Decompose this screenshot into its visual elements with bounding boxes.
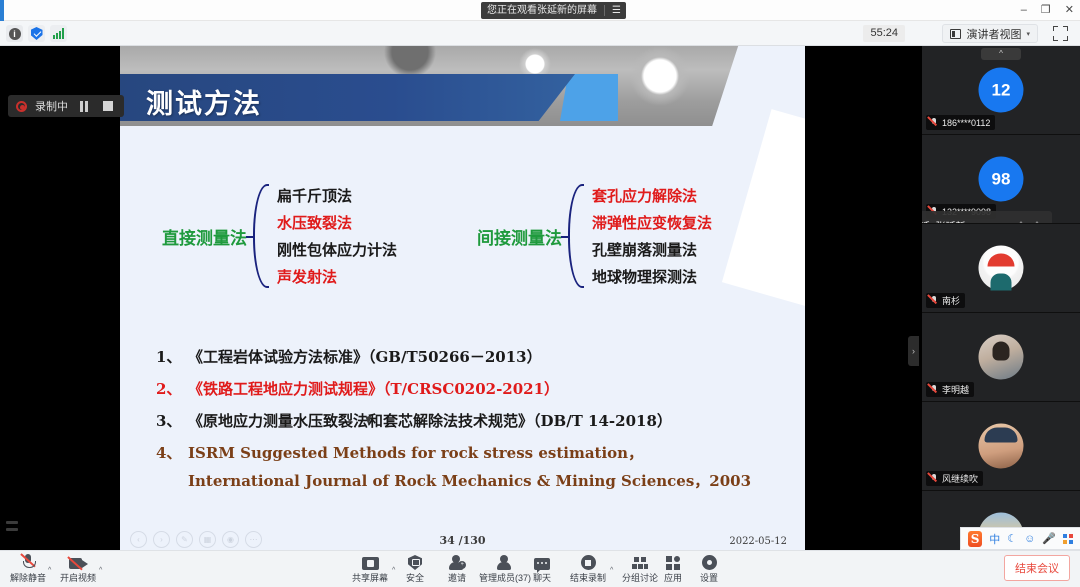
reference-text: 《工程岩体试验方法标准》（GB/T50266－2013） [188,346,542,367]
slide-date: 2022-05-12 [729,536,787,547]
recording-label: 录制中 [35,98,68,114]
participant-tile[interactable]: 南杉 [922,224,1080,313]
slide-footer: ‹ › ✎ ▦ ◉ ⋯ 34 /130 2022-05-12 [120,524,805,550]
participant-name: 南杉 [942,294,960,307]
invite-label: 邀请 [448,571,466,584]
avatar: 98 [979,157,1024,202]
avatar: 12 [979,68,1024,113]
emoji-icon[interactable]: ☺ [1024,533,1035,545]
microphone-muted-icon [929,117,938,128]
security-button[interactable]: 安全 [406,554,424,584]
branch-label: 直接测量法 [162,224,247,249]
reference-number: 1、 [156,346,180,367]
zoom-icon[interactable]: ◉ [222,531,239,548]
unmute-label: 解除静音 [10,571,46,584]
meeting-status-icons: i [6,25,67,42]
reference-number: 4、 [156,442,180,463]
slide-corner-shape [722,109,805,307]
share-options-caret[interactable]: ^ [392,567,395,574]
share-screen-button[interactable]: 共享屏幕 [352,554,388,584]
pause-recording-button[interactable] [76,98,92,114]
slide-page-number: 34 /130 [439,534,485,547]
chevron-up-icon[interactable]: ^ [981,48,1021,60]
participant-tile[interactable]: 正在讲话: 张延新; 98 132****9098 [922,135,1080,224]
branch-item-list: 套孔应力解除法 滞弹性应变恢复法 孔壁崩落测量法 地球物理探测法 [592,185,712,287]
microphone-muted-icon [929,384,938,395]
more-options-icon[interactable]: ⋯ [245,531,262,548]
avatar [979,246,1024,291]
chat-label: 聊天 [533,571,551,584]
person-icon [497,554,513,570]
ime-toolbar: S 中 ☾ ☺ 🎤 [960,527,1080,550]
share-screen-icon [362,554,379,570]
share-screen-label: 共享屏幕 [352,571,388,584]
start-video-button[interactable]: 开启视频 [60,554,96,584]
participant-name-tag: 186****0112 [926,115,995,130]
invite-button[interactable]: + 邀请 [448,554,466,584]
manage-participants-button[interactable]: 管理成员(37) [479,554,531,584]
window-controls: – ❐ ✕ [1021,0,1074,21]
screen-share-notice-label: 您正在观看张延新的屏幕 [487,2,597,19]
branch-item: 套孔应力解除法 [592,185,712,206]
branch-item: 地球物理探测法 [592,266,712,287]
fullscreen-icon[interactable] [1053,26,1068,41]
branch-item: 刚性包体应力计法 [277,239,397,260]
apps-grid-icon [666,554,681,570]
microphone-muted-icon [929,473,938,484]
apps-label: 应用 [664,571,682,584]
collapse-panel-button[interactable]: › [908,336,919,366]
window-accent-edge [0,0,4,21]
branch-item-list: 扁千斤顶法 水压致裂法 刚性包体应力计法 声发射法 [277,185,397,287]
participants-panel: ^ 12 186****0112 正在讲话: 张延新; 98 132****90… [922,46,1080,550]
info-icon[interactable]: i [6,25,23,42]
branch-label: 间接测量法 [477,224,562,249]
moon-icon[interactable]: ☾ [1007,532,1017,545]
reference-item-continuation: International Journal of Rock Mechanics … [188,470,796,491]
grid-view-icon[interactable]: ▦ [199,531,216,548]
sogou-ime-logo-icon[interactable]: S [968,531,982,547]
reference-text: ISRM Suggested Methods for rock stress e… [188,442,643,463]
breakout-rooms-label: 分组讨论 [622,571,658,584]
branch-item: 滞弹性应变恢复法 [592,212,712,233]
record-dot-icon [16,101,27,112]
breakout-rooms-icon [632,554,648,570]
speaking-indicator-toast: 正在讲话: 张延新; [922,211,1052,224]
meeting-window: 您正在观看张延新的屏幕 ☰ – ❐ ✕ i 55:24 演讲者视图 ▾ [0,0,1080,587]
settings-label: 设置 [700,571,718,584]
microphone-muted-icon [929,295,938,306]
annotation-handle[interactable] [6,521,18,549]
pen-icon[interactable]: ✎ [176,531,193,548]
audio-options-caret[interactable]: ^ [48,567,51,574]
chevron-down-icon[interactable]: ▾ [1026,30,1030,38]
gear-icon [702,554,717,570]
participant-name-tag: 风继续吹 [926,471,983,486]
next-slide-icon[interactable]: › [153,531,170,548]
avatar [979,424,1024,469]
maximize-button[interactable]: ❐ [1041,0,1051,21]
stop-recording-button[interactable]: 结束录制 [570,554,606,584]
close-button[interactable]: ✕ [1065,0,1074,21]
end-meeting-button[interactable]: 结束会议 [1004,555,1070,581]
minimize-button[interactable]: – [1021,0,1027,21]
branch-direct-measurement: 直接测量法 扁千斤顶法 水压致裂法 刚性包体应力计法 声发射法 [162,184,397,288]
settings-button[interactable]: 设置 [700,554,718,584]
participant-name-tag: 南杉 [926,293,965,308]
reference-number: 2、 [156,378,180,399]
start-video-label: 开启视频 [60,571,96,584]
recording-control-bar: 录制中 [8,95,124,117]
window-title-bar: 您正在观看张延新的屏幕 ☰ – ❐ ✕ [0,0,1080,21]
presentation-slide: 测试方法 直接测量法 扁千斤顶法 水压致裂法 刚性包体应力计法 声发射法 [120,46,805,550]
reference-list: 1、 《工程岩体试验方法标准》（GB/T50266－2013） 2、 《铁路工程… [156,346,796,491]
stop-recording-button[interactable] [100,98,116,114]
branch-item: 扁千斤顶法 [277,185,397,206]
avatar [979,335,1024,380]
view-mode-label: 演讲者视图 [966,26,1021,42]
manage-participants-label: 管理成员(37) [479,571,531,584]
signal-bars-icon[interactable] [50,25,67,42]
stop-recording-label: 结束录制 [570,571,606,584]
pause-icon [80,101,88,112]
reference-item: 3、 《原地应力测量水压致裂法和套芯解除法技术规范》（DB/T 14-2018） [156,410,796,431]
branch-item: 孔壁崩落测量法 [592,239,712,260]
stop-recording-icon [581,554,596,570]
prev-slide-icon[interactable]: ‹ [130,531,147,548]
chat-icon [534,554,550,570]
brace-icon [253,184,269,288]
microphone-icon[interactable]: 🎤 [1042,532,1056,545]
speaker-view-icon [950,29,961,39]
meeting-timer: 55:24 [863,25,905,42]
participant-name-tag: 李明越 [926,382,974,397]
reference-item: 4、 ISRM Suggested Methods for rock stres… [156,442,796,463]
meeting-toolbar: 解除静音 ^ 开启视频 ^ 共享屏幕 ^ 安全 + 邀请 管理成员(37) [0,550,1080,587]
reference-text: 《原地应力测量水压致裂法和套芯解除法技术规范》（DB/T 14-2018） [188,410,672,431]
microphone-muted-icon [22,554,35,570]
stop-icon [103,101,113,111]
shield-icon[interactable] [28,25,45,42]
meeting-info-bar: i 55:24 演讲者视图 ▾ [0,21,1080,46]
view-mode-switch[interactable]: 演讲者视图 ▾ [942,24,1038,43]
add-person-icon: + [449,554,465,570]
reference-number: 3、 [156,410,180,431]
shared-screen-region: 录制中 测试方法 直接测量法 [0,46,920,550]
unmute-button[interactable]: 解除静音 [10,554,46,584]
slide-title: 测试方法 [146,82,262,121]
brace-icon [568,184,584,288]
camera-muted-icon [69,554,88,570]
apps-button[interactable]: 应用 [664,554,682,584]
reference-text: 《铁路工程地应力测试规程》（T/CRSC0202-2021） [188,378,559,399]
hamburger-menu-icon[interactable]: ☰ [612,2,620,19]
breakout-rooms-button[interactable]: 分组讨论 [622,554,658,584]
recording-options-caret[interactable]: ^ [610,567,613,574]
security-label: 安全 [406,571,424,584]
slide-body: 直接测量法 扁千斤顶法 水压致裂法 刚性包体应力计法 声发射法 间接测量法 套孔… [120,126,805,550]
branch-item: 声发射法 [277,266,397,287]
shield-icon [408,554,422,570]
branch-indirect-measurement: 间接测量法 套孔应力解除法 滞弹性应变恢复法 孔壁崩落测量法 地球物理探测法 [477,184,712,288]
participant-tile[interactable]: 李明越 [922,313,1080,402]
video-options-caret[interactable]: ^ [99,567,102,574]
reference-item: 1、 《工程岩体试验方法标准》（GB/T50266－2013） [156,346,796,367]
reference-item: 2、 《铁路工程地应力测试规程》（T/CRSC0202-2021） [156,378,796,399]
branch-item: 水压致裂法 [277,212,397,233]
chat-button[interactable]: 聊天 [533,554,551,584]
divider [604,5,605,16]
presenter-tools[interactable]: ‹ › ✎ ▦ ◉ ⋯ [130,531,262,548]
participant-tile[interactable]: 风继续吹 [922,402,1080,491]
participant-name: 李明越 [942,383,969,396]
participant-name: 风继续吹 [942,472,978,485]
keyboard-grid-icon[interactable] [1063,534,1073,544]
participant-name: 186****0112 [942,118,990,128]
ime-mode-toggle[interactable]: 中 [989,531,1000,547]
screen-share-notice[interactable]: 您正在观看张延新的屏幕 ☰ [481,2,626,19]
